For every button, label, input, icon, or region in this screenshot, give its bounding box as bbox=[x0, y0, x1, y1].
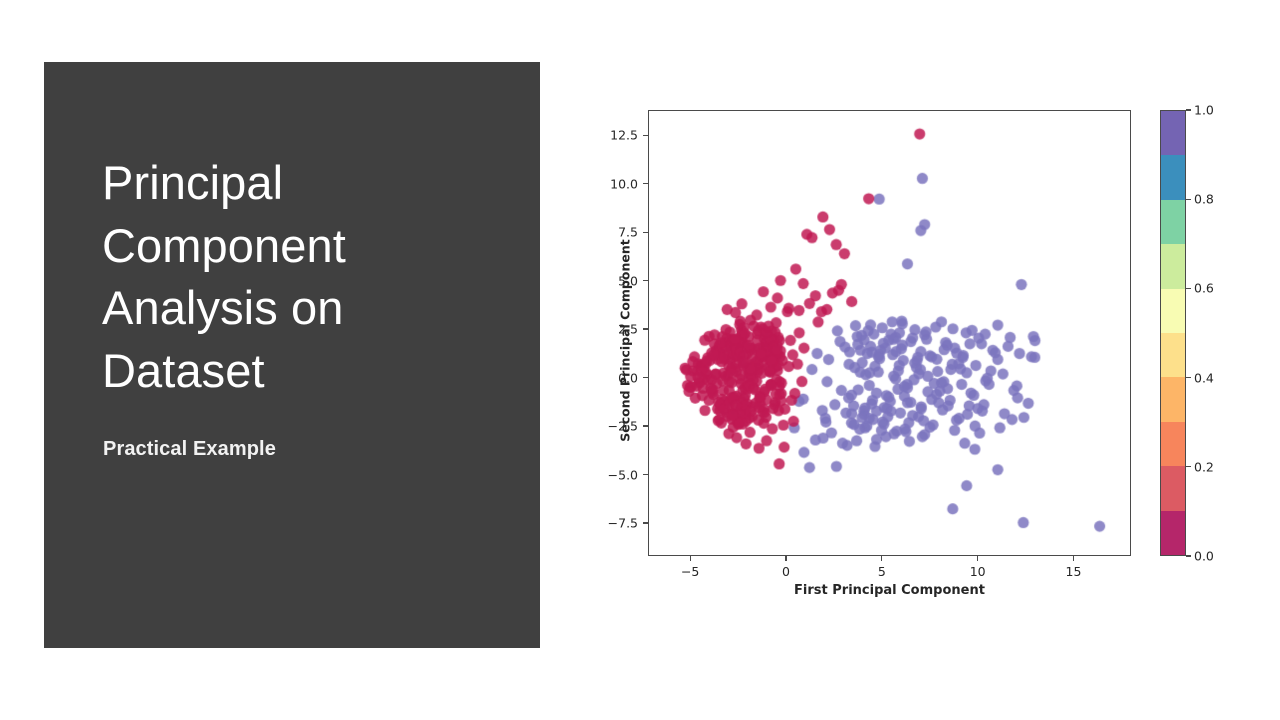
x-tick-mark bbox=[1073, 556, 1074, 561]
colorbar-band bbox=[1161, 111, 1185, 155]
colorbar-band bbox=[1161, 377, 1185, 421]
plot-area bbox=[648, 110, 1131, 556]
x-tick-label: 0 bbox=[782, 564, 790, 579]
colorbar-band bbox=[1161, 511, 1185, 555]
colorbar-tick-mark bbox=[1186, 466, 1191, 467]
colorbar-gradient bbox=[1160, 110, 1186, 556]
y-tick-mark bbox=[643, 474, 648, 475]
colorbar-band bbox=[1161, 155, 1185, 199]
x-axis-label: First Principal Component bbox=[648, 583, 1131, 598]
colorbar-tick-mark bbox=[1186, 555, 1191, 556]
x-tick-label: −5 bbox=[681, 564, 699, 579]
colorbar-band bbox=[1161, 200, 1185, 244]
colorbar-tick-label: 1.0 bbox=[1194, 103, 1214, 118]
x-tick-label: 5 bbox=[878, 564, 886, 579]
x-tick-label: 15 bbox=[1066, 564, 1082, 579]
y-tick-label: −7.5 bbox=[586, 516, 638, 531]
colorbar-tick-label: 0.0 bbox=[1194, 549, 1214, 564]
y-tick-mark bbox=[643, 280, 648, 281]
colorbar-band bbox=[1161, 333, 1185, 377]
colorbar-tick-mark bbox=[1186, 109, 1191, 110]
colorbar-tick-label: 0.2 bbox=[1194, 459, 1214, 474]
y-tick-mark bbox=[643, 425, 648, 426]
title-panel: Principal Component Analysis on Dataset … bbox=[44, 62, 540, 648]
x-tick-mark bbox=[977, 556, 978, 561]
x-tick-mark bbox=[785, 556, 786, 561]
y-tick-label: 12.5 bbox=[586, 128, 638, 143]
y-axis-label: Second Principal Component bbox=[618, 201, 633, 481]
y-tick-mark bbox=[643, 328, 648, 329]
colorbar-band bbox=[1161, 244, 1185, 288]
slide-subtitle: Practical Example bbox=[103, 438, 276, 461]
y-tick-mark bbox=[643, 232, 648, 233]
page-title: Principal Component Analysis on Dataset bbox=[102, 152, 502, 402]
y-tick-label: 10.0 bbox=[586, 176, 638, 191]
y-tick-mark bbox=[643, 522, 648, 523]
x-tick-mark bbox=[881, 556, 882, 561]
colorbar-band bbox=[1161, 289, 1185, 333]
colorbar-band bbox=[1161, 422, 1185, 466]
y-tick-mark bbox=[643, 135, 648, 136]
y-tick-mark bbox=[643, 377, 648, 378]
scatter-plot-canvas bbox=[649, 111, 1130, 555]
colorbar-band bbox=[1161, 466, 1185, 510]
colorbar-tick-mark bbox=[1186, 199, 1191, 200]
colorbar-tick-label: 0.4 bbox=[1194, 370, 1214, 385]
colorbar-tick-label: 0.8 bbox=[1194, 192, 1214, 207]
colorbar-tick-mark bbox=[1186, 288, 1191, 289]
pca-scatter-figure: 12.510.07.55.02.50.0−2.5−5.0−7.5 −505101… bbox=[570, 96, 1230, 616]
colorbar-tick-mark bbox=[1186, 377, 1191, 378]
colorbar: 1.00.80.60.40.20.0 bbox=[1160, 110, 1186, 556]
colorbar-tick-label: 0.6 bbox=[1194, 281, 1214, 296]
x-tick-label: 10 bbox=[970, 564, 986, 579]
x-tick-mark bbox=[690, 556, 691, 561]
y-tick-mark bbox=[643, 183, 648, 184]
